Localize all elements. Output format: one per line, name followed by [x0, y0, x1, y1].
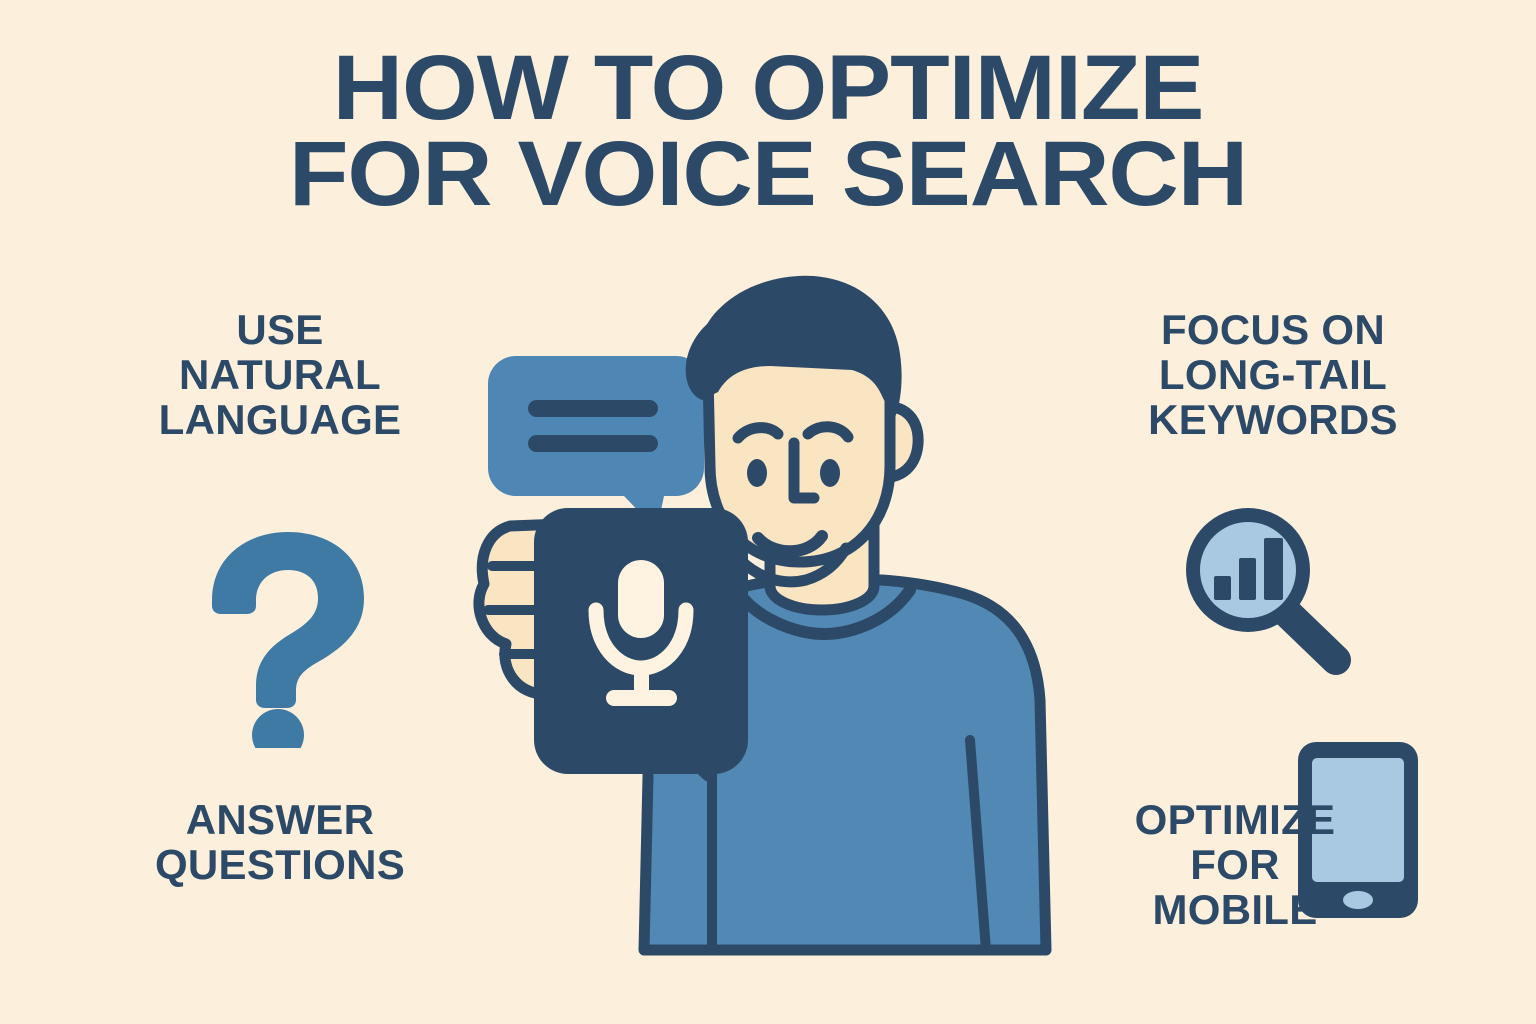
eye-right [820, 459, 840, 487]
question-mark-icon [198, 528, 378, 748]
chart-bar-2 [1239, 558, 1256, 600]
label-line-3: LANGUAGE [110, 398, 450, 443]
label-line-1: USE [110, 308, 450, 353]
label-line-2: FOR [1090, 843, 1380, 888]
label-line-1: FOCUS ON [1098, 308, 1448, 353]
page-title: HOW TO OPTIMIZE FOR VOICE SEARCH [0, 46, 1536, 217]
label-line-3: KEYWORDS [1098, 398, 1448, 443]
label-line-2: NATURAL [110, 353, 450, 398]
infographic-canvas: HOW TO OPTIMIZE FOR VOICE SEARCH USE NAT… [0, 0, 1536, 1024]
chart-bar-1 [1214, 576, 1231, 600]
magnifying-glass-bar-chart-icon [1178, 502, 1358, 682]
label-use-natural-language: USE NATURAL LANGUAGE [110, 308, 450, 443]
label-line-2: LONG-TAIL [1098, 353, 1448, 398]
person-holding-phone-illustration [470, 270, 1070, 960]
eye-left [747, 459, 767, 487]
chart-bar-3 [1264, 538, 1283, 600]
label-answer-questions: ANSWER QUESTIONS [105, 798, 455, 888]
label-optimize-for-mobile: OPTIMIZE FOR MOBILE [1090, 798, 1380, 933]
label-line-3: MOBILE [1090, 888, 1380, 933]
label-line-1: OPTIMIZE [1090, 798, 1380, 843]
title-line-1: HOW TO OPTIMIZE [0, 46, 1536, 132]
label-line-2: QUESTIONS [105, 843, 455, 888]
label-focus-on-long-tail-keywords: FOCUS ON LONG-TAIL KEYWORDS [1098, 308, 1448, 443]
title-line-2: FOR VOICE SEARCH [0, 132, 1536, 218]
phone-body [534, 508, 748, 774]
label-line-1: ANSWER [105, 798, 455, 843]
